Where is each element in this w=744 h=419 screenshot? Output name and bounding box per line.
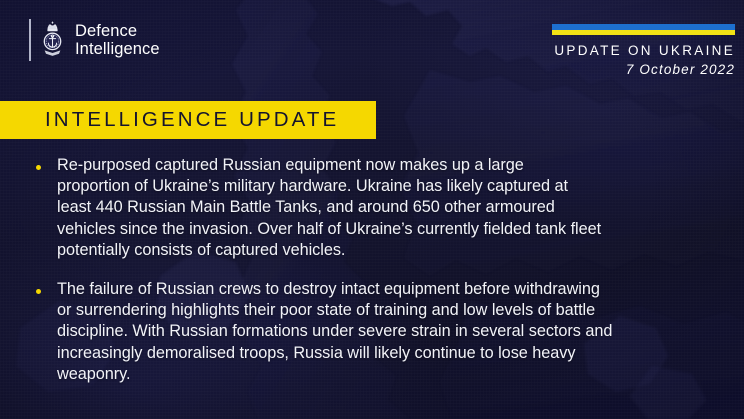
flag-stripe-yellow xyxy=(552,30,735,36)
bullet-list: Re-purposed captured Russian equipment n… xyxy=(36,155,712,403)
update-header: UPDATE ON UKRAINE 7 October 2022 xyxy=(0,43,735,80)
list-item: The failure of Russian crews to destroy … xyxy=(36,279,712,385)
bullet-text: Re-purposed captured Russian equipment n… xyxy=(57,155,601,261)
intelligence-update-slide: Defence Intelligence UPDATE ON UKRAINE 7… xyxy=(0,0,744,419)
logo-text-defence: Defence xyxy=(75,22,160,40)
update-title: UPDATE ON UKRAINE xyxy=(0,43,735,60)
intelligence-update-banner: INTELLIGENCE UPDATE xyxy=(0,101,376,139)
bullet-dot-icon xyxy=(36,289,41,294)
banner-label: INTELLIGENCE UPDATE xyxy=(45,108,339,132)
list-item: Re-purposed captured Russian equipment n… xyxy=(36,155,712,261)
update-date: 7 October 2022 xyxy=(0,60,735,80)
bullet-dot-icon xyxy=(36,165,41,170)
ukraine-flag-bar xyxy=(552,24,735,35)
bullet-text: The failure of Russian crews to destroy … xyxy=(57,279,612,385)
